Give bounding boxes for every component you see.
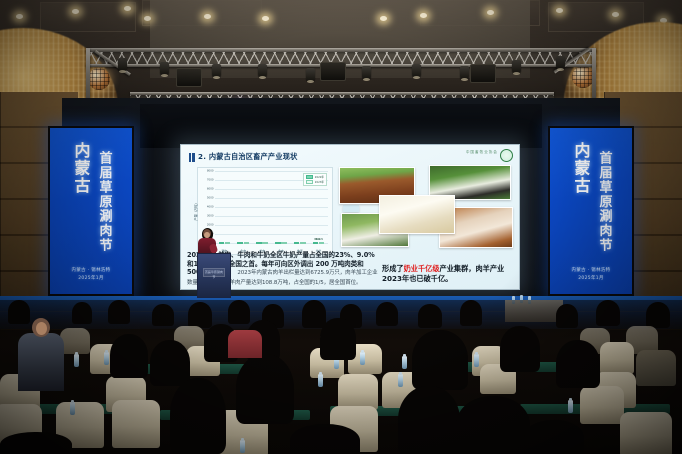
led-title-sub: 首届草原涮肉节 <box>595 142 614 253</box>
photo-thumb-extra <box>343 205 359 212</box>
spotlight <box>212 64 221 77</box>
stage-light-panel <box>470 64 496 83</box>
ceiling-downlight <box>124 6 131 11</box>
chart-bar-value: 6410.5 <box>314 238 322 241</box>
chart-y-tick: 5000 <box>207 197 214 200</box>
audience-person <box>556 340 600 388</box>
spotlight <box>306 68 315 81</box>
audience-person <box>376 302 398 326</box>
led-footer-left: 内蒙古 · 锡林浩特 2025年1月 <box>50 267 132 282</box>
spotlight <box>118 58 127 71</box>
led-screen-left[interactable]: 首届草原涮肉节 内蒙古 内蒙古 · 锡林浩特 2025年1月 <box>48 126 134 296</box>
audience-person <box>290 424 360 454</box>
ceiling-downlight <box>144 16 151 21</box>
chart-y-tick: 6000 <box>207 188 214 191</box>
audience-person <box>228 300 250 324</box>
association-logo-icon <box>500 149 513 162</box>
chart-bar <box>237 242 243 244</box>
ceiling-coffer <box>40 2 136 32</box>
chair-back <box>112 400 160 448</box>
chart-bar-group <box>237 242 249 244</box>
chart-y-axis-label: 产量（万吨） <box>193 201 198 220</box>
audience-person <box>646 302 670 328</box>
chart-bar <box>244 242 250 244</box>
stage-backdrop-upper <box>140 104 542 148</box>
ceiling-downlight <box>556 8 563 13</box>
slide-title-text: 2. 内蒙古自治区畜产产业现状 <box>198 152 298 162</box>
water-bottle <box>70 402 75 415</box>
water-bottle <box>74 354 79 367</box>
audience-person <box>72 302 92 324</box>
audience-person-lit-face <box>36 322 47 335</box>
chart-bar <box>294 242 300 244</box>
photo-milk-products <box>379 195 455 234</box>
ceiling-downlight <box>16 14 23 19</box>
led-title-sub: 首届草原涮肉节 <box>95 142 114 253</box>
chart-bar <box>219 242 225 244</box>
audience-person <box>188 302 212 328</box>
audience-person <box>108 300 130 324</box>
spotlight <box>412 64 421 77</box>
chart-bar: 7802.1 <box>313 242 319 244</box>
audience-person <box>110 334 148 378</box>
audience-person <box>456 396 530 454</box>
audience-person <box>418 304 442 328</box>
water-bottle <box>474 354 479 367</box>
audience-person <box>150 340 190 386</box>
chair-back <box>636 350 676 386</box>
chart-legend-label: 2022年 <box>315 175 324 179</box>
audience-area <box>0 300 682 454</box>
led-footer-line1: 内蒙古 · 锡林浩特 <box>550 267 632 274</box>
audience-person <box>460 300 482 326</box>
spotlight <box>512 60 521 73</box>
audience-person <box>170 378 226 454</box>
water-bottle <box>240 440 245 453</box>
water-bottle <box>318 374 323 387</box>
chart-bar <box>275 242 281 244</box>
audience-person <box>152 304 174 326</box>
chair-back <box>600 342 634 374</box>
led-footer-line2: 2025年1月 <box>50 275 132 282</box>
chart-bar-group <box>219 242 231 244</box>
slide-text-right-highlight: 奶业千亿级 <box>404 264 440 273</box>
chart-legend-swatch <box>306 175 313 179</box>
audience-person <box>236 354 294 424</box>
ceiling-downlight <box>380 16 387 21</box>
chart-legend-item: 2023年 <box>306 180 324 184</box>
audience-person <box>8 300 30 324</box>
spotlight <box>556 56 565 69</box>
ceiling-downlight <box>487 10 494 15</box>
stage-light-panel <box>176 68 202 87</box>
podium: 首届草原涮肉节 <box>197 253 231 298</box>
ceiling-downlight <box>72 9 79 14</box>
title-bars-icon <box>189 153 195 162</box>
chart-bar <box>256 242 262 244</box>
slide-body-text-right: 形成了奶业千亿级产业集群，肉羊产业2023年也已破千亿。 <box>382 264 514 284</box>
audience-person <box>320 318 356 360</box>
led-footer-right: 内蒙古 · 锡林浩特 2025年1月 <box>550 267 632 282</box>
chart-bar: 6410.5 <box>319 242 325 244</box>
chair-back <box>580 386 624 424</box>
chart-legend: 2022年2023年 <box>303 173 327 186</box>
audience-person <box>398 386 460 454</box>
spotlight <box>160 62 169 75</box>
chart-y-tick: 4000 <box>207 206 214 209</box>
audience-person <box>500 326 540 372</box>
chart-bar-group: 7802.16410.5 <box>313 242 325 244</box>
ceiling-downlight <box>262 16 269 21</box>
chair-back <box>620 412 672 454</box>
audience-person-red-jacket <box>228 330 262 358</box>
audience-person <box>412 330 468 390</box>
chart-bar-group <box>275 242 287 244</box>
audience-person <box>0 432 72 454</box>
audience-person-lit-body <box>18 333 64 391</box>
projection-screen[interactable]: 2. 内蒙古自治区畜产产业现状 中国畜牧业协会 产量（万吨） 010002000… <box>180 144 520 290</box>
photo-collage <box>339 165 513 253</box>
spotlight <box>258 64 267 77</box>
chair-back <box>60 328 90 354</box>
audience-person <box>524 420 584 454</box>
water-bottle <box>360 352 365 365</box>
led-footer-line1: 内蒙古 · 锡林浩特 <box>50 267 132 274</box>
ceiling-downlight <box>612 12 619 17</box>
ceiling-downlight <box>420 13 427 18</box>
conference-photo: 首届草原涮肉节 内蒙古 内蒙古 · 锡林浩特 2025年1月 首届草原涮肉节 内… <box>0 0 682 454</box>
chart-legend-label: 2023年 <box>315 180 324 184</box>
chart-y-tick: 2000 <box>207 224 214 227</box>
chart-bar-group <box>294 242 306 244</box>
chart-bar <box>281 242 287 244</box>
led-title-main: 内蒙古 <box>69 142 93 195</box>
spotlight <box>460 66 469 79</box>
podium-nameplate: 首届草原涮肉节 <box>203 268 225 277</box>
led-footer-line2: 2025年1月 <box>550 275 632 282</box>
chart-bar <box>225 242 231 244</box>
led-screen-right[interactable]: 首届草原涮肉节 内蒙古 内蒙古 · 锡林浩特 2025年1月 <box>548 126 634 296</box>
chart-bar <box>300 242 306 244</box>
ceiling-downlight <box>204 14 211 19</box>
chair-back <box>338 374 378 410</box>
slide-logo-label: 中国畜牧业协会 <box>466 150 498 155</box>
audience-person <box>596 300 620 326</box>
audience-person <box>302 300 326 328</box>
chart-bar-group <box>256 242 268 244</box>
slide-text-right-prefix: 形成了 <box>382 264 404 273</box>
spotlight <box>362 66 371 79</box>
chart-y-tick: 7000 <box>207 179 214 182</box>
chart-y-tick: 3000 <box>207 215 214 218</box>
water-bottle <box>402 356 407 369</box>
water-bottle <box>104 352 109 365</box>
led-title-main: 内蒙古 <box>569 142 593 195</box>
chart-legend-item: 2022年 <box>306 175 324 179</box>
water-bottle <box>398 374 403 387</box>
chart-legend-swatch <box>306 180 313 184</box>
chart-y-tick: 8000 <box>207 170 214 173</box>
audience-person <box>556 304 578 328</box>
presentation-slide: 2. 内蒙古自治区畜产产业现状 中国畜牧业协会 产量（万吨） 010002000… <box>181 145 519 289</box>
stage-light-panel <box>320 62 346 81</box>
slide-title: 2. 内蒙古自治区畜产产业现状 <box>189 152 298 162</box>
water-bottle <box>568 400 573 413</box>
chart-bar <box>262 242 268 244</box>
